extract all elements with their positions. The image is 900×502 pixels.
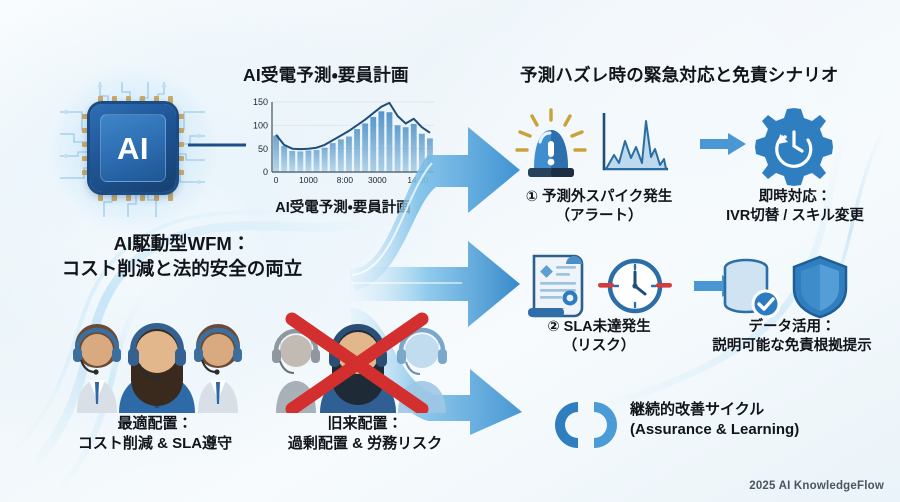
chip-pin bbox=[175, 156, 184, 161]
svg-text:50: 50 bbox=[258, 144, 268, 154]
spike-chart-icon bbox=[598, 111, 670, 177]
legacy-staffing-caption: 旧来配置： 過剰配置 & 労務リスク bbox=[250, 414, 480, 454]
optimal-staffing-people bbox=[55, 308, 260, 413]
chip-pin bbox=[98, 192, 103, 201]
optimal-staffing-caption: 最適配置： コスト削減 & SLA遵守 bbox=[40, 414, 270, 454]
spike-trigger-icons bbox=[512, 108, 670, 180]
svg-text:1000: 1000 bbox=[299, 175, 318, 185]
svg-text:150: 150 bbox=[253, 98, 268, 107]
agent-left bbox=[73, 324, 121, 413]
ai-chip-body: AI bbox=[90, 104, 176, 192]
ai-chip: AI bbox=[60, 82, 205, 217]
chip-pin bbox=[175, 114, 184, 119]
contract-document-icon bbox=[520, 252, 590, 320]
spike-response-caption: 即時対応： IVR切替 / スキル変更 bbox=[680, 188, 900, 226]
chip-pin bbox=[175, 170, 184, 175]
svg-text:0: 0 bbox=[274, 175, 279, 185]
footer-credit: 2025 AI KnowledgeFlow bbox=[749, 480, 884, 492]
chip-to-chart-connector bbox=[188, 140, 250, 150]
scenario-section-title: 予測ハズレ時の緊急対応と免責シナリオ bbox=[520, 62, 839, 87]
chip-pin bbox=[168, 96, 173, 105]
agent-center bbox=[119, 326, 195, 413]
refresh-cycle-icon bbox=[548, 396, 624, 454]
arrow-spike-to-response bbox=[700, 132, 746, 156]
clock-icon bbox=[598, 253, 672, 319]
chip-pin bbox=[175, 128, 184, 133]
shield-icon bbox=[790, 254, 850, 320]
chip-pin bbox=[168, 192, 173, 201]
gear-clock-icon bbox=[752, 104, 836, 188]
database-check-icon bbox=[718, 255, 782, 319]
chip-pin bbox=[112, 192, 117, 201]
ai-chip-label: AI bbox=[117, 133, 149, 164]
sla-response-icons bbox=[718, 254, 850, 320]
chip-pin bbox=[126, 192, 131, 201]
svg-text:0: 0 bbox=[263, 167, 268, 177]
alert-siren-icon bbox=[512, 108, 590, 180]
ai-chip-die: AI bbox=[100, 114, 166, 182]
infographic-canvas: AI AI駆動型WFM： コスト削減と法的安全の両立 AI受電予測・要員計画 0… bbox=[0, 0, 900, 502]
svg-text:100: 100 bbox=[253, 121, 268, 131]
chip-pin bbox=[154, 192, 159, 201]
agent-right bbox=[194, 324, 242, 413]
spike-trigger-caption: ① 予測外スパイク発生 （アラート） bbox=[496, 188, 702, 226]
left-claim-text: AI駆動型WFM： コスト削減と法的安全の両立 bbox=[22, 232, 342, 282]
sla-response-caption: データ活用： 説明可能な免責根拠提示 bbox=[672, 318, 900, 356]
cycle-caption: 継続的改善サイクル (Assurance & Learning) bbox=[630, 400, 799, 441]
sla-trigger-icons bbox=[520, 252, 672, 320]
legacy-staffing-people bbox=[270, 305, 460, 413]
chip-pin bbox=[175, 142, 184, 147]
chip-pin bbox=[140, 192, 145, 201]
forecast-section-title: AI受電予測・要員計画 bbox=[243, 62, 409, 87]
